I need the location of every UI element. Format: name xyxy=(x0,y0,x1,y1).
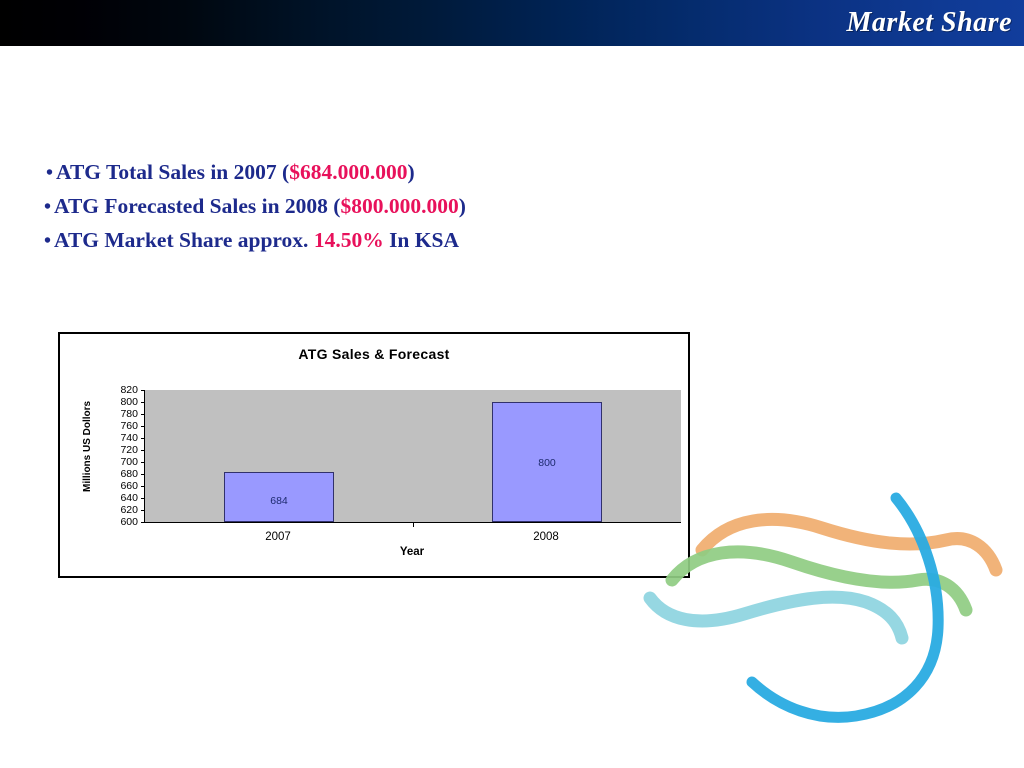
y-axis-tickmark xyxy=(141,426,145,427)
bullet-text-post: ) xyxy=(407,160,414,184)
y-axis-tick-label: 720 xyxy=(120,445,138,455)
y-axis-tickmark xyxy=(141,510,145,511)
y-axis-tickmark xyxy=(141,450,145,451)
x-axis-tickmark xyxy=(413,522,414,527)
x-axis-category-2007: 2007 xyxy=(238,531,318,543)
bullet-text-post: In KSA xyxy=(384,228,459,252)
bullet-text-pre: ATG Total Sales in 2007 ( xyxy=(56,160,289,184)
bullet-marker-icon: • xyxy=(46,162,56,184)
y-axis-tick-label: 820 xyxy=(120,385,138,395)
bullet-text-post: ) xyxy=(459,194,466,218)
y-axis-tick-label: 800 xyxy=(120,397,138,407)
chart-title: ATG Sales & Forecast xyxy=(60,346,688,362)
y-axis-tick-label: 760 xyxy=(120,421,138,431)
list-item: •ATG Market Share approx. 14.50% In KSA xyxy=(44,224,744,258)
header-banner: Market Share xyxy=(0,0,1024,46)
swoosh-teal-icon xyxy=(650,597,902,638)
list-item: •ATG Forecasted Sales in 2008 ($800.000.… xyxy=(44,190,744,224)
bullet-highlight-value: $684.000.000 xyxy=(289,160,407,184)
y-axis-tickmark xyxy=(141,486,145,487)
y-axis-tick-label: 700 xyxy=(120,457,138,467)
y-axis-tick-label: 640 xyxy=(120,493,138,503)
y-axis-tick-label: 660 xyxy=(120,481,138,491)
swoosh-green-icon xyxy=(672,552,966,610)
bar-value-label: 800 xyxy=(493,457,601,469)
y-axis-tickmark xyxy=(141,414,145,415)
y-axis-tickmark xyxy=(141,498,145,499)
page-title: Market Share xyxy=(847,7,1012,39)
y-axis-tickmark xyxy=(141,438,145,439)
swoosh-orange-icon xyxy=(702,519,996,570)
y-axis-tick-label: 780 xyxy=(120,409,138,419)
y-axis-tickmark xyxy=(141,462,145,463)
bar-2007: 684 xyxy=(224,472,334,522)
decorative-swoosh-graphic xyxy=(640,470,1024,740)
y-axis-tick-label: 600 xyxy=(120,517,138,527)
x-axis-category-2008: 2008 xyxy=(506,531,586,543)
swoosh-blue-icon xyxy=(752,498,938,717)
y-axis-tickmark xyxy=(141,474,145,475)
y-axis-tickmark xyxy=(141,522,145,523)
bullet-list: •ATG Total Sales in 2007 ($684.000.000) … xyxy=(44,156,744,258)
bullet-text-pre: ATG Forecasted Sales in 2008 ( xyxy=(54,194,340,218)
y-axis-tickmark xyxy=(141,402,145,403)
y-axis-tick-label: 680 xyxy=(120,469,138,479)
bullet-highlight-value: 14.50% xyxy=(314,228,384,252)
y-axis-tick-label: 740 xyxy=(120,433,138,443)
bullet-text-pre: ATG Market Share approx. xyxy=(54,228,314,252)
bullet-highlight-value: $800.000.000 xyxy=(340,194,458,218)
y-axis-tick-label: 620 xyxy=(120,505,138,515)
bullet-marker-icon: • xyxy=(44,230,54,252)
chart-container: ATG Sales & Forecast Millions US Dollors… xyxy=(58,332,690,578)
list-item: •ATG Total Sales in 2007 ($684.000.000) xyxy=(44,156,744,190)
x-axis-label: Year xyxy=(144,546,680,558)
bullet-marker-icon: • xyxy=(44,196,54,218)
y-axis-tick-labels: 820800780760740720700680660640620600 xyxy=(98,386,140,522)
plot-area: 684800 xyxy=(144,390,681,523)
bar-value-label: 684 xyxy=(225,495,333,507)
y-axis-tickmark xyxy=(141,390,145,391)
y-axis-label: Millions US Dollors xyxy=(82,386,96,506)
bar-2008: 800 xyxy=(492,402,602,522)
